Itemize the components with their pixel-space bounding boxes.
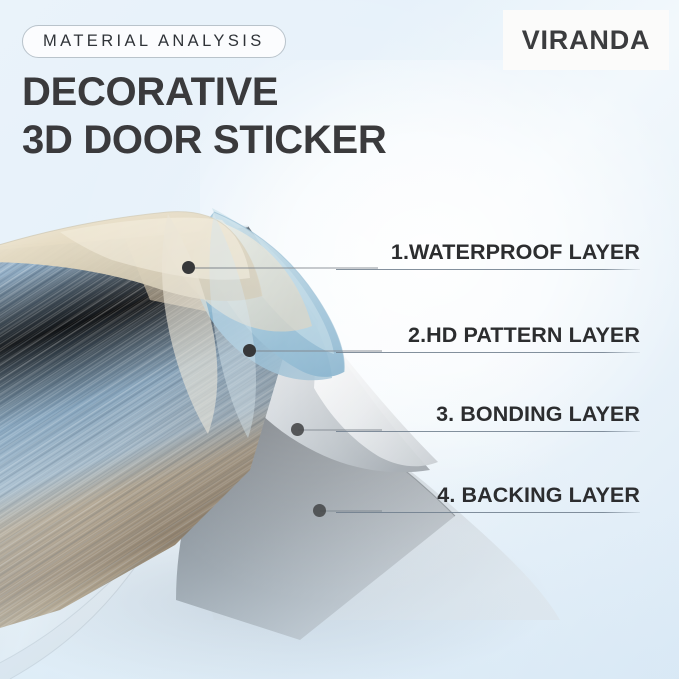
callout-rule-4 [336, 512, 640, 513]
material-analysis-infographic: MATERIAL ANALYSIS DECORATIVE 3D DOOR STI… [0, 0, 679, 679]
page-title-line-1: DECORATIVE [22, 70, 278, 114]
callout-backing-layer: 4. BACKING LAYER [336, 479, 640, 513]
callout-dot-bonding [291, 423, 304, 436]
background-highlight-lower [0, 330, 360, 679]
callout-dot-hd-pattern [243, 344, 256, 357]
callout-rule-1 [336, 269, 640, 270]
page-title-line-2: 3D DOOR STICKER [22, 116, 386, 164]
brand-name: VIRANDA [522, 25, 651, 56]
callout-dot-waterproof [182, 261, 195, 274]
callout-rule-3 [336, 431, 640, 432]
callout-waterproof-layer: 1.WATERPROOF LAYER [336, 236, 640, 270]
brand-logo: VIRANDA [503, 10, 669, 70]
callout-dot-backing [313, 504, 326, 517]
callout-hd-pattern-layer: 2.HD PATTERN LAYER [336, 319, 640, 353]
callout-label-1: 1.WATERPROOF LAYER [391, 240, 640, 265]
material-analysis-badge: MATERIAL ANALYSIS [22, 25, 286, 58]
badge-label: MATERIAL ANALYSIS [43, 32, 265, 51]
callout-label-2: 2.HD PATTERN LAYER [408, 323, 640, 348]
page-title: DECORATIVE 3D DOOR STICKER [22, 68, 386, 164]
callout-rule-2 [336, 352, 640, 353]
callout-label-3: 3. BONDING LAYER [436, 402, 640, 427]
callout-label-4: 4. BACKING LAYER [437, 483, 640, 508]
callout-bonding-layer: 3. BONDING LAYER [336, 398, 640, 432]
